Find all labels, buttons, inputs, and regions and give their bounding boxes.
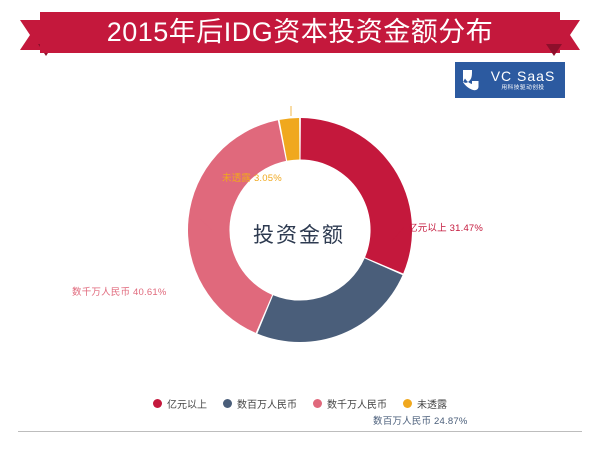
donut-chart: 投资金额 亿元以上 31.47% 数百万人民币 24.87% 数千万人民币 40… [0,70,600,390]
footer-divider [18,431,582,432]
legend-item-yiyuan-yishang[interactable]: 亿元以上 [153,396,207,411]
slice-label-shuqianwan-renminbi: 数千万人民币 40.61% [72,284,166,298]
chart-legend: 亿元以上 数百万人民币 数千万人民币 未透露 [0,396,600,411]
donut-slice-group [188,118,412,342]
legend-item-shubaiwan-renminbi[interactable]: 数百万人民币 [223,396,297,411]
legend-swatch-shuqianwan-renminbi [313,399,322,408]
legend-swatch-yiyuan-yishang [153,399,162,408]
legend-item-weitoulu[interactable]: 未透露 [403,396,447,411]
donut-slice[interactable] [301,118,412,273]
legend-item-shuqianwan-renminbi[interactable]: 数千万人民币 [313,396,387,411]
legend-swatch-shubaiwan-renminbi [223,399,232,408]
page-title: 2015年后IDG资本投资金额分布 [40,12,560,53]
legend-label-weitoulu: 未透露 [417,396,447,411]
slice-label-shubaiwan-renminbi: 数百万人民币 24.87% [373,413,467,427]
slice-label-yiyuan-yishang: 亿元以上 31.47% [408,220,483,234]
title-banner: 2015年后IDG资本投资金额分布 [0,0,600,70]
slice-label-weitoulu: 未透露 3.05% [222,170,282,184]
donut-slice[interactable] [257,258,402,342]
legend-label-shuqianwan-renminbi: 数千万人民币 [327,396,387,411]
legend-label-yiyuan-yishang: 亿元以上 [167,396,207,411]
legend-swatch-weitoulu [403,399,412,408]
legend-label-shubaiwan-renminbi: 数百万人民币 [237,396,297,411]
donut-chart-svg [0,70,600,390]
